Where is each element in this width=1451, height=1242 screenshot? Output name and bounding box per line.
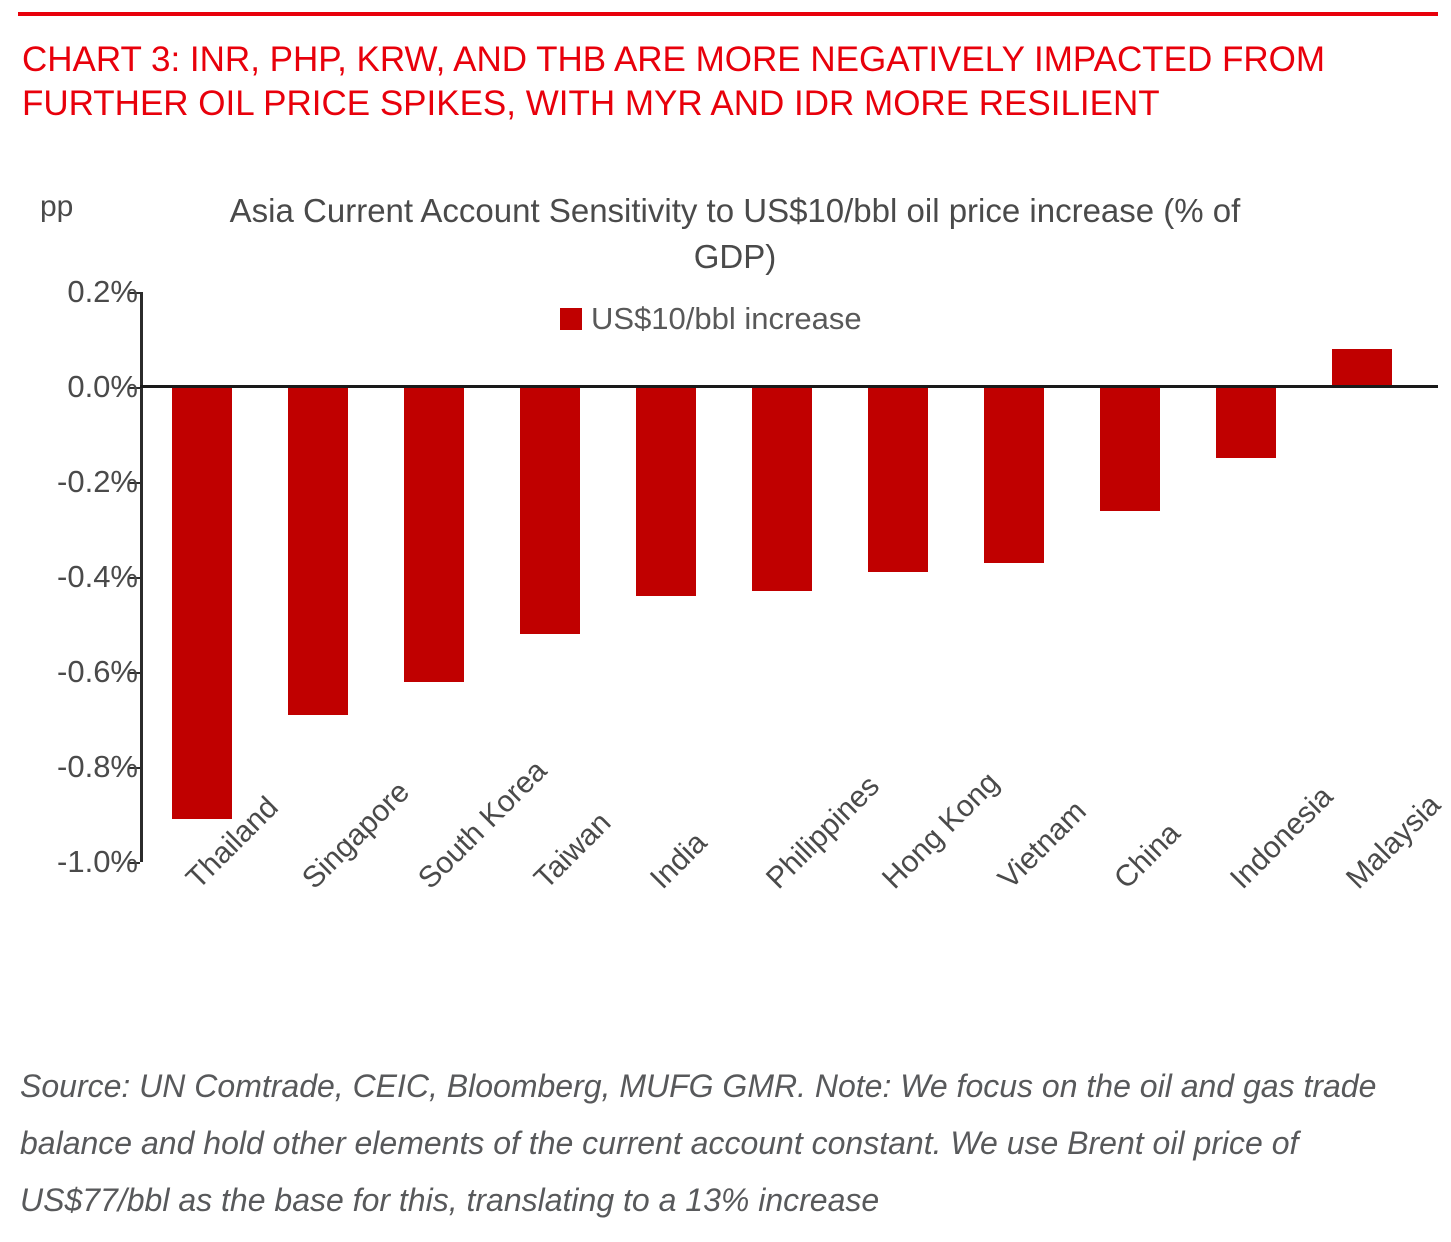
plot-area (140, 292, 1438, 862)
bar (752, 387, 812, 591)
y-axis-tick-label: 0.0% (18, 369, 138, 405)
bar (868, 387, 928, 572)
y-axis-tick-label: -0.2% (18, 464, 138, 500)
source-note: Source: UN Comtrade, CEIC, Bloomberg, MU… (20, 1058, 1430, 1229)
bar (404, 387, 464, 682)
bar (984, 387, 1044, 563)
bar (1216, 387, 1276, 458)
y-axis-line (140, 292, 143, 862)
y-axis-unit-label: pp (40, 190, 73, 224)
chart-headline: CHART 3: INR, PHP, KRW, AND THB ARE MORE… (22, 38, 1422, 126)
bar (636, 387, 696, 596)
bar (172, 387, 232, 819)
y-axis-tick-label: 0.2% (18, 274, 138, 310)
chart-title: Asia Current Account Sensitivity to US$1… (195, 188, 1275, 280)
y-axis-tick-label: -0.6% (18, 654, 138, 690)
bar (1332, 349, 1392, 387)
zero-baseline (140, 385, 1438, 388)
top-rule-divider (18, 12, 1438, 16)
y-axis-tick-label: -1.0% (18, 844, 138, 880)
y-axis-tick-label: -0.4% (18, 559, 138, 595)
bar (520, 387, 580, 634)
bar (1100, 387, 1160, 511)
y-axis-tick-label: -0.8% (18, 749, 138, 785)
bar (288, 387, 348, 715)
